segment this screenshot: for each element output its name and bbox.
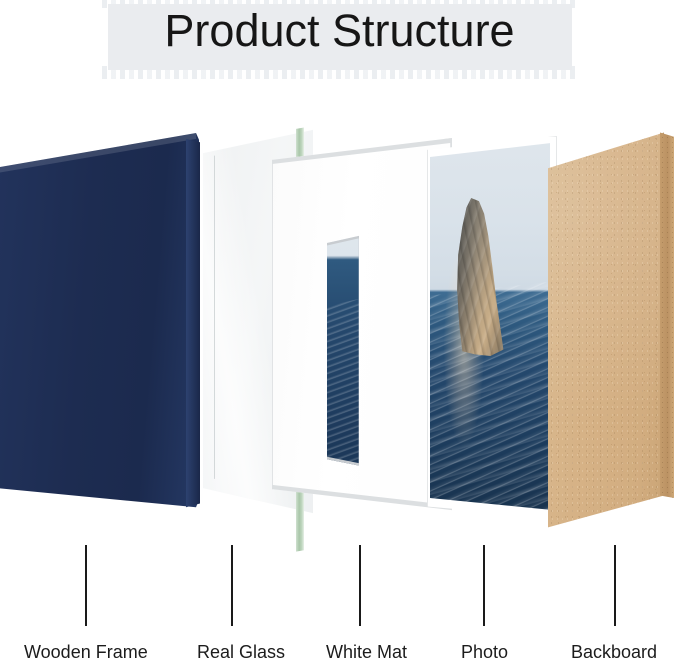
callout-tick-white-mat [359,545,361,626]
layer-wooden-frame [0,128,210,548]
callout-tick-backboard [614,545,616,626]
frame-moulding [0,128,199,548]
callout-tick-photo [483,545,485,626]
callout-label-wooden-frame: Wooden Frame [24,641,148,663]
backboard-side-texture [660,130,674,555]
callout-tick-real-glass [231,545,233,626]
backboard-fibre-texture [548,130,664,555]
frame-side-thickness [186,128,200,548]
product-structure-diagram: Product Structure [0,0,679,666]
layer-photo [427,136,562,556]
callout-label-real-glass: Real Glass [197,641,285,663]
layer-backboard [548,130,679,555]
callout-label-photo: Photo [461,641,508,663]
callout-label-white-mat: White Mat [326,641,407,663]
page-title: Product Structure [0,2,679,60]
callout-tick-wooden-frame [85,545,87,626]
mat-board [272,138,452,558]
callout-label-backboard: Backboard [571,641,657,663]
